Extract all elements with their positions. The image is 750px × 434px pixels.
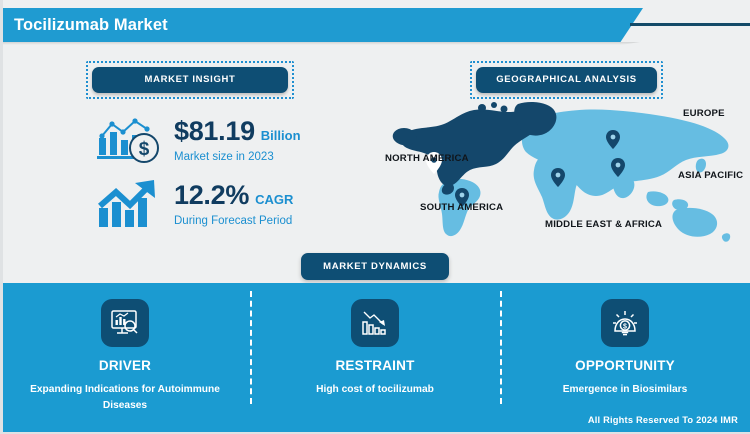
driver-description: Expanding Indications for Autoimmune Dis… xyxy=(0,382,250,414)
stat-market-size-value: $81.19 xyxy=(174,118,255,145)
growth-arrow-icon xyxy=(92,176,166,234)
lightbulb-dollar-icon: $ xyxy=(601,299,649,347)
page-title: Tocilizumab Market xyxy=(14,8,168,42)
stat-cagr-unit: CAGR xyxy=(255,193,293,206)
market-dynamics-badge: MARKET DYNAMICS xyxy=(301,253,449,280)
stat-market-size-caption: Market size in 2023 xyxy=(174,152,301,164)
market-dynamics-panel: DRIVER Expanding Indications for Autoimm… xyxy=(0,283,750,434)
stat-cagr: 12.2% CAGR During Forecast Period xyxy=(92,176,293,234)
opportunity-title: OPPORTUNITY xyxy=(500,358,750,373)
stat-market-size: $ $81.19 Billion Market size in 2023 xyxy=(92,112,301,170)
driver-title: DRIVER xyxy=(0,358,250,373)
opportunity-description: Emergence in Biosimilars xyxy=(500,382,750,398)
restraint-description: High cost of tocilizumab xyxy=(250,382,500,398)
header-banner-shadow xyxy=(0,42,640,45)
region-label-north-america: NORTH AMERICA xyxy=(385,153,469,164)
dynamics-column-driver: DRIVER Expanding Indications for Autoimm… xyxy=(0,283,250,434)
header-banner: Tocilizumab Market xyxy=(0,8,643,42)
region-label-europe: EUROPE xyxy=(683,108,725,119)
stat-cagr-caption: During Forecast Period xyxy=(174,216,293,228)
region-label-middle-east-africa: MIDDLE EAST & AFRICA xyxy=(545,219,662,230)
stat-cagr-value: 12.2% xyxy=(174,182,249,209)
dynamics-divider-2 xyxy=(500,291,502,404)
dynamics-column-opportunity: $ OPPORTUNITY Emergence in Biosimilars xyxy=(500,283,750,434)
header-rule xyxy=(630,23,750,26)
dynamics-divider-1 xyxy=(250,291,252,404)
region-label-south-america: SOUTH AMERICA xyxy=(420,202,503,213)
copyright-note: All Rights Reserved To 2024 IMR xyxy=(588,415,738,425)
world-map: NORTH AMERICA SOUTH AMERICA EUROPE ASIA … xyxy=(390,100,745,245)
geographical-analysis-badge: GEOGRAPHICAL ANALYSIS xyxy=(470,61,663,99)
market-insight-badge: MARKET INSIGHT xyxy=(86,61,294,99)
stat-market-size-text: $81.19 Billion Market size in 2023 xyxy=(174,118,301,164)
geographical-analysis-badge-label: GEOGRAPHICAL ANALYSIS xyxy=(476,67,657,93)
market-insight-badge-label: MARKET INSIGHT xyxy=(92,67,288,93)
region-label-asia-pacific: ASIA PACIFIC xyxy=(678,170,743,181)
monitor-analytics-search-icon xyxy=(101,299,149,347)
bar-chart-dollar-icon: $ xyxy=(92,112,166,170)
stat-market-size-unit: Billion xyxy=(261,129,301,142)
stat-cagr-text: 12.2% CAGR During Forecast Period xyxy=(174,182,293,228)
restraint-title: RESTRAINT xyxy=(250,358,500,373)
declining-bar-chart-icon xyxy=(351,299,399,347)
left-edge-border xyxy=(0,0,3,434)
dynamics-column-restraint: RESTRAINT High cost of tocilizumab xyxy=(250,283,500,434)
infographic-root: Tocilizumab Market MARKET INSIGHT GEOGRA… xyxy=(0,0,750,434)
svg-text:$: $ xyxy=(623,323,627,330)
svg-text:$: $ xyxy=(139,139,150,160)
